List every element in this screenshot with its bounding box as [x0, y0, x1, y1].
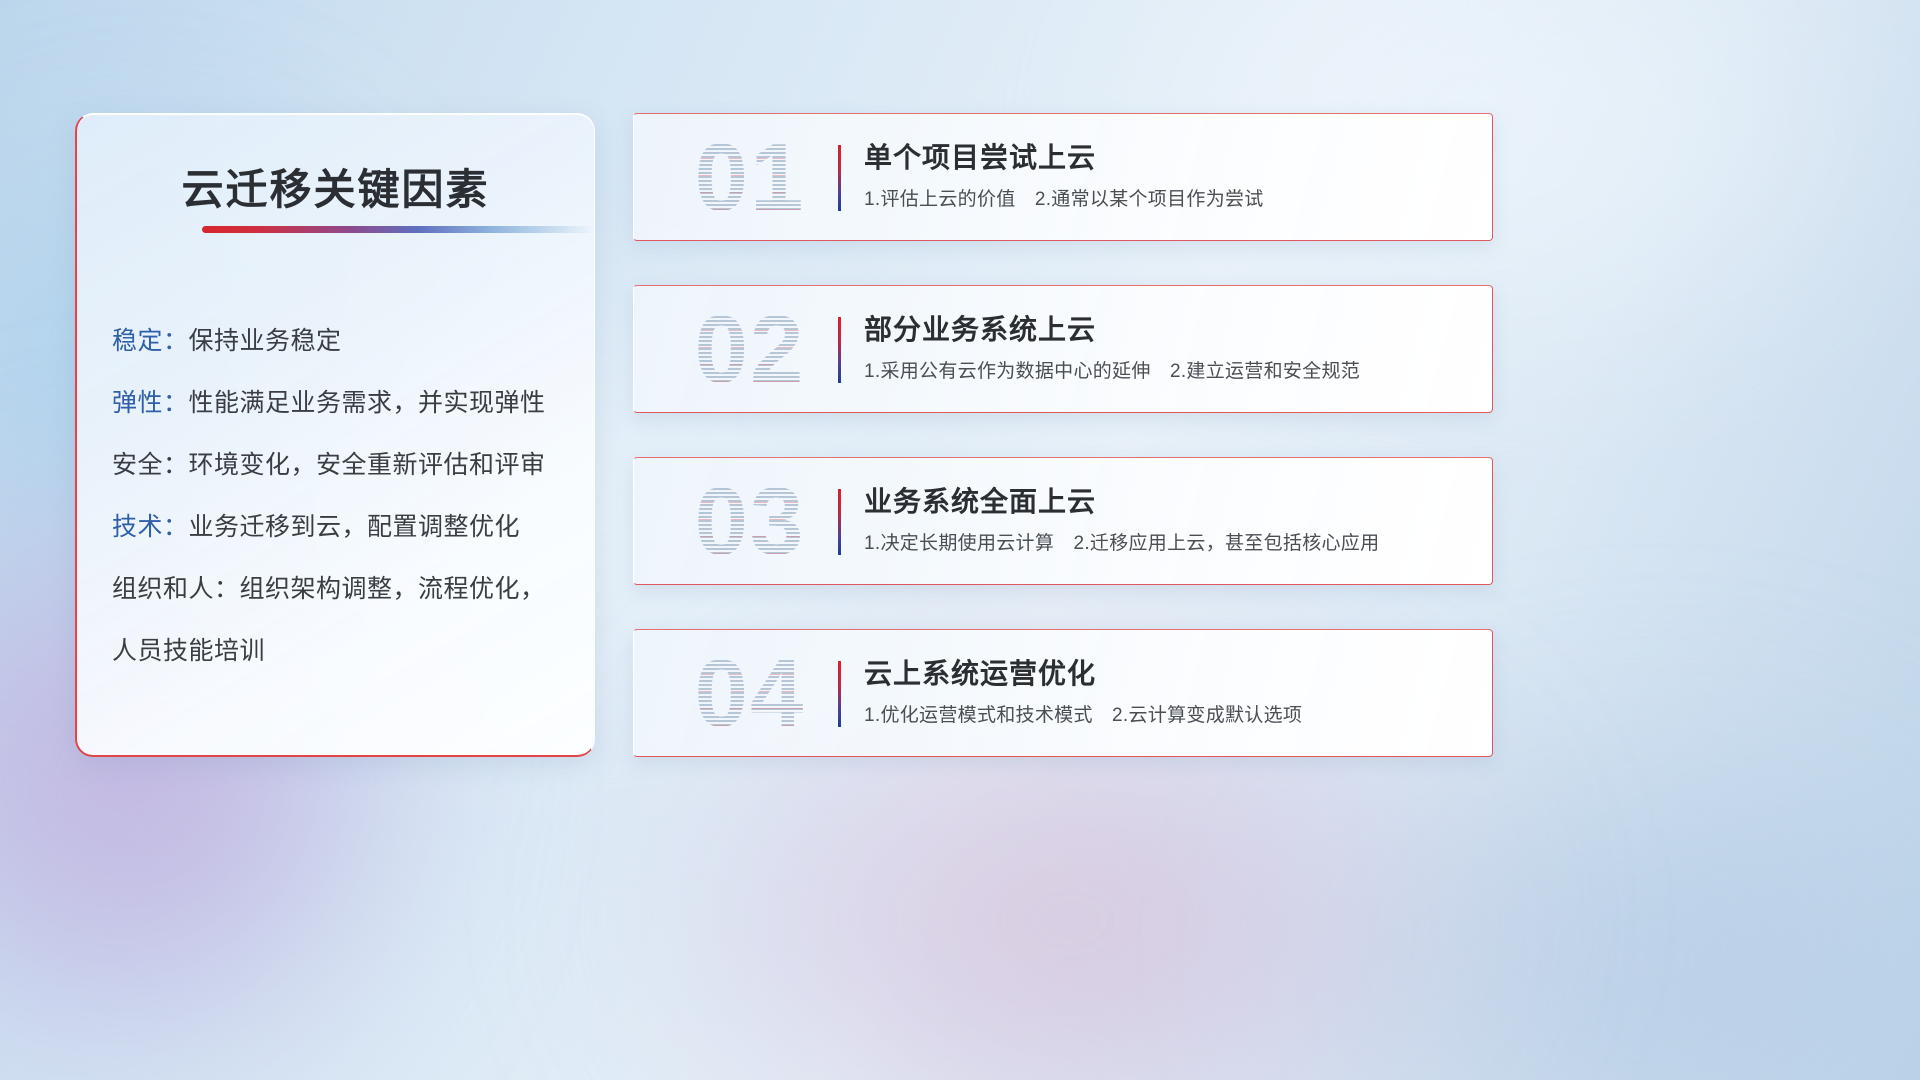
step-card[interactable]: 01 01 单个项目尝试上云 1.评估上云的价值 2.通常以某个项目作为尝试 [633, 113, 1493, 241]
step-body: 业务系统全面上云 1.决定长期使用云计算 2.迁移应用上云，甚至包括核心应用 [864, 482, 1472, 558]
step-divider-bar [838, 661, 841, 727]
step-description: 1.决定长期使用云计算 2.迁移应用上云，甚至包括核心应用 [864, 530, 1472, 558]
step-number-watermark-tint: 04 [666, 640, 834, 748]
factor-list: 稳定：保持业务稳定 弹性：性能满足业务需求，并实现弹性 安全：环境变化，安全重新… [112, 310, 574, 682]
step-description: 1.优化运营模式和技术模式 2.云计算变成默认选项 [864, 702, 1472, 730]
step-number-watermark-tint: 03 [666, 468, 834, 576]
step-number-watermark-tint: 01 [666, 124, 834, 232]
factor-row: 技术：业务迁移到云，配置调整优化 [112, 496, 574, 558]
key-factors-panel: 云迁移关键因素 稳定：保持业务稳定 弹性：性能满足业务需求，并实现弹性 安全：环… [75, 113, 595, 757]
step-divider-bar [838, 145, 841, 211]
step-body: 部分业务系统上云 1.采用公有云作为数据中心的延伸 2.建立运营和安全规范 [864, 310, 1472, 386]
step-card[interactable]: 03 03 业务系统全面上云 1.决定长期使用云计算 2.迁移应用上云，甚至包括… [633, 457, 1493, 585]
slide-stage: 云迁移关键因素 稳定：保持业务稳定 弹性：性能满足业务需求，并实现弹性 安全：环… [0, 0, 1920, 1080]
step-description: 1.评估上云的价值 2.通常以某个项目作为尝试 [864, 186, 1472, 214]
factor-text: 保持业务稳定 [189, 327, 342, 355]
step-description: 1.采用公有云作为数据中心的延伸 2.建立运营和安全规范 [864, 358, 1472, 386]
step-body: 单个项目尝试上云 1.评估上云的价值 2.通常以某个项目作为尝试 [864, 138, 1472, 214]
factor-row: 组织和人：组织架构调整，流程优化， [112, 558, 574, 620]
step-body: 云上系统运营优化 1.优化运营模式和技术模式 2.云计算变成默认选项 [864, 654, 1472, 730]
factor-text: 性能满足业务需求，并实现弹性 [189, 389, 546, 417]
step-card[interactable]: 02 02 部分业务系统上云 1.采用公有云作为数据中心的延伸 2.建立运营和安… [633, 285, 1493, 413]
panel-title: 云迁移关键因素 [77, 156, 594, 217]
factor-row: 弹性：性能满足业务需求，并实现弹性 [112, 372, 574, 434]
factor-label: 弹性： [112, 389, 189, 417]
step-title: 单个项目尝试上云 [864, 138, 1472, 178]
factor-label: 技术： [112, 513, 189, 541]
factor-label: 稳定： [112, 327, 189, 355]
step-title: 部分业务系统上云 [864, 310, 1472, 350]
step-number-watermark-tint: 02 [666, 296, 834, 404]
factor-row: 稳定：保持业务稳定 [112, 310, 574, 372]
factor-text: 人员技能培训 [112, 637, 265, 665]
step-title: 业务系统全面上云 [864, 482, 1472, 522]
factor-label: 组织和人： [112, 575, 240, 603]
step-divider-bar [838, 489, 841, 555]
step-divider-bar [838, 317, 841, 383]
factor-label: 安全： [112, 451, 189, 479]
factor-text: 组织架构调整，流程优化， [240, 575, 546, 603]
step-title: 云上系统运营优化 [864, 654, 1472, 694]
step-card[interactable]: 04 04 云上系统运营优化 1.优化运营模式和技术模式 2.云计算变成默认选项 [633, 629, 1493, 757]
factor-text: 业务迁移到云，配置调整优化 [189, 513, 521, 541]
factor-row: 人员技能培训 [112, 620, 574, 682]
factor-row: 安全：环境变化，安全重新评估和评审 [112, 434, 574, 496]
title-underline-bar [202, 226, 594, 233]
factor-text: 环境变化，安全重新评估和评审 [189, 451, 546, 479]
